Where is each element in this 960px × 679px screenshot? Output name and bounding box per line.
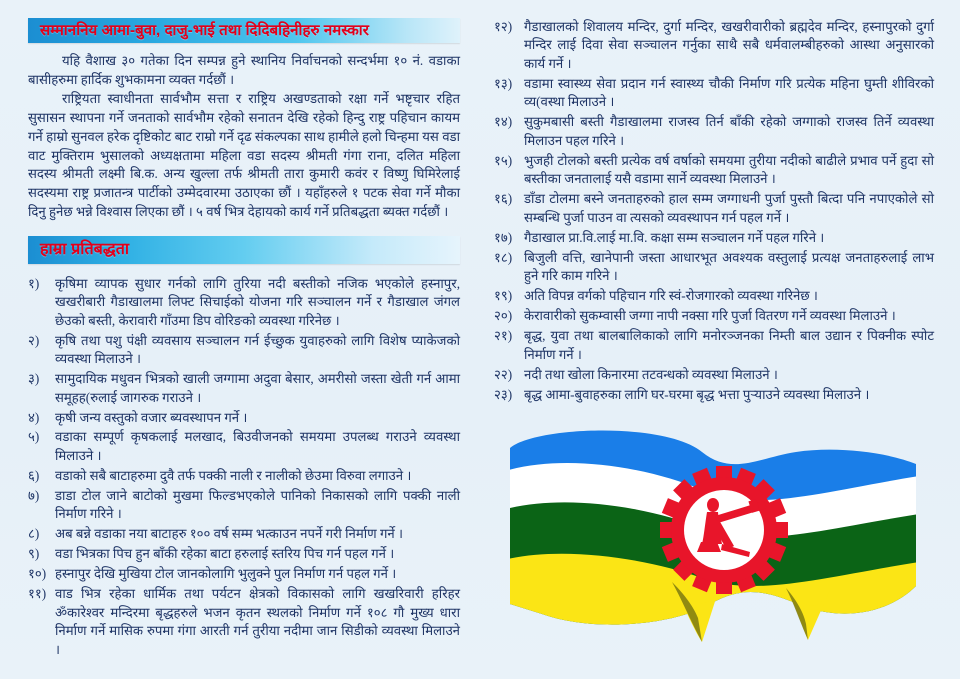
- list-item-text: नदी तथा खोला किनारमा तटवन्धको व्यवस्था म…: [524, 366, 934, 384]
- list-item: ९) वडा भित्रका पिच हुन बाँकी रहेका बाटा …: [28, 545, 460, 563]
- commitments-list-right: १२) गैडाखालको शिवालय मन्दिर, दुर्गा मन्द…: [494, 18, 934, 404]
- list-item-number: ६): [28, 467, 55, 485]
- list-item-number: २०): [494, 307, 524, 325]
- intro-paragraph-1: यहि वैशाख ३० गतेका दिन सम्पन्न हुने स्था…: [28, 52, 460, 89]
- list-item-number: ५): [28, 428, 55, 446]
- list-item-text: अब बन्ने वडाका नया बाटाहरु १०० वर्ष सम्म…: [55, 525, 460, 543]
- list-item-text: बिजुली वत्ति, खानेपानी जस्ता आधारभूत अवश…: [524, 249, 934, 286]
- list-item: १८) बिजुली वत्ति, खानेपानी जस्ता आधारभूत…: [494, 249, 934, 286]
- intro-paragraph-2: राष्ट्रियता स्वाधीनता सार्वभौम सत्ता र र…: [28, 90, 460, 221]
- list-item-number: १८): [494, 249, 524, 267]
- list-item: २०) केरावारीको सुकम्वासी जग्गा नापी नक्स…: [494, 307, 934, 325]
- greeting-banner-title: सम्माननिय आमा-बुवा, दाजु-भाई तथा दिदिबहि…: [40, 23, 369, 38]
- list-item-number: ३): [28, 370, 55, 388]
- gear-emblem-icon: [660, 466, 788, 594]
- list-item-number: १९): [494, 287, 524, 305]
- list-item: १०) हस्नापुर देखि मुखिया टोल जानकोलागि भ…: [28, 565, 460, 583]
- list-item: १४) सुकुमबासी बस्ती गैडाखालमा राजस्व तिर…: [494, 113, 934, 150]
- list-item: २३) बृद्ध आमा-बुवाहरुका लागि घर-घरमा बृद…: [494, 386, 934, 404]
- list-item: ६) वडाको सबै बाटाहरुमा दुवै तर्फ पक्की न…: [28, 467, 460, 485]
- list-item-text: वाड भित्र रहेका धार्मिक तथा पर्यटन क्षेत…: [55, 585, 460, 659]
- list-item-number: २२): [494, 366, 524, 384]
- commitments-banner: हाम्रा प्रतिबद्धता: [28, 236, 460, 264]
- right-column: १२) गैडाखालको शिवालय मन्दिर, दुर्गा मन्द…: [480, 0, 960, 679]
- list-item-text: अति विपन्न वर्गको पहिचान गरि स्वं-रोजगार…: [524, 287, 934, 305]
- list-item-number: १६): [494, 190, 524, 208]
- list-item: २१) बृद्ध, युवा तथा बालबालिकाको लागि मनो…: [494, 327, 934, 364]
- list-item: १) कृषिमा व्यापक सुधार गर्नको लागि तुरिय…: [28, 275, 460, 330]
- list-item-number: २): [28, 332, 55, 350]
- party-flag-emblem-icon: [496, 418, 932, 670]
- list-item-text: वडा भित्रका पिच हुन बाँकी रहेका बाटा हरु…: [55, 545, 460, 563]
- list-item: १२) गैडाखालको शिवालय मन्दिर, दुर्गा मन्द…: [494, 18, 934, 73]
- list-item: १६) डाँडा टोलमा बस्ने जनताहरुको हाल सम्म…: [494, 190, 934, 227]
- list-item-text: कृषि तथा पशु पंक्षी व्यवसाय सञ्चालन गर्न…: [55, 332, 460, 369]
- list-item: ७) डाडा टोल जाने बाटोको मुखमा फिल्डभएकोल…: [28, 487, 460, 524]
- list-item: २२) नदी तथा खोला किनारमा तटवन्धको व्यवस्…: [494, 366, 934, 384]
- list-item-text: वडाका सम्पूर्ण कृषकलाई मलखाद, बिउवीजनको …: [55, 428, 460, 465]
- list-item-number: १२): [494, 18, 524, 36]
- list-item-number: १७): [494, 229, 524, 247]
- list-item-text: कृषिमा व्यापक सुधार गर्नको लागि तुरिया न…: [55, 275, 460, 330]
- list-item-text: डाँडा टोलमा बस्ने जनताहरुको हाल सम्म जग्…: [524, 190, 934, 227]
- list-item-text: सामुदायिक मधुवन भित्रको खाली जग्गामा अदु…: [55, 370, 460, 407]
- list-item-text: केरावारीको सुकम्वासी जग्गा नापी नक्सा गर…: [524, 307, 934, 325]
- list-item-text: भुजही टोलको बस्ती प्रत्येक वर्ष वर्षाको …: [524, 152, 934, 189]
- list-item-text: हस्नापुर देखि मुखिया टोल जानकोलागि भुलुक…: [55, 565, 460, 583]
- list-item: १३) वडामा स्वास्थ्य सेवा प्रदान गर्न स्व…: [494, 75, 934, 112]
- list-item-text: डाडा टोल जाने बाटोको मुखमा फिल्डभएकोले प…: [55, 487, 460, 524]
- list-item: ३) सामुदायिक मधुवन भित्रको खाली जग्गामा …: [28, 370, 460, 407]
- list-item-number: १): [28, 275, 55, 293]
- list-item-text: सुकुमबासी बस्ती गैडाखालमा राजस्व तिर्न ब…: [524, 113, 934, 150]
- commitments-list-left: १) कृषिमा व्यापक सुधार गर्नको लागि तुरिय…: [28, 275, 460, 660]
- list-item-text: कृषी जन्य वस्तुको वजार ब्यवस्थापन गर्ने …: [55, 409, 460, 427]
- pamphlet-page: सम्माननिय आमा-बुवा, दाजु-भाई तथा दिदिबहि…: [0, 0, 960, 679]
- greeting-banner: सम्माननिय आमा-बुवा, दाजु-भाई तथा दिदिबहि…: [28, 18, 460, 43]
- commitments-banner-title: हाम्रा प्रतिबद्धता: [40, 242, 129, 258]
- list-item-number: १०): [28, 565, 55, 583]
- list-item: ४) कृषी जन्य वस्तुको वजार ब्यवस्थापन गर्…: [28, 409, 460, 427]
- left-column: सम्माननिय आमा-बुवा, दाजु-भाई तथा दिदिबहि…: [0, 0, 480, 679]
- list-item-number: १४): [494, 113, 524, 131]
- list-item: १७) गैडाखाल प्रा.वि.लाई मा.वि. कक्षा सम्…: [494, 229, 934, 247]
- list-item: ८) अब बन्ने वडाका नया बाटाहरु १०० वर्ष स…: [28, 525, 460, 543]
- list-item-text: गैडाखालको शिवालय मन्दिर, दुर्गा मन्दिर, …: [524, 18, 934, 73]
- list-item-text: गैडाखाल प्रा.वि.लाई मा.वि. कक्षा सम्म सञ…: [524, 229, 934, 247]
- list-item-number: २१): [494, 327, 524, 345]
- list-item: १५) भुजही टोलको बस्ती प्रत्येक वर्ष वर्ष…: [494, 152, 934, 189]
- list-item-text: बृद्ध आमा-बुवाहरुका लागि घर-घरमा बृद्ध भ…: [524, 386, 934, 404]
- party-flag-container: [494, 418, 934, 670]
- list-item-text: वडामा स्वास्थ्य सेवा प्रदान गर्न स्वास्थ…: [524, 75, 934, 112]
- list-item-number: ४): [28, 409, 55, 427]
- list-item-number: ७): [28, 487, 55, 505]
- list-item-number: २३): [494, 386, 524, 404]
- list-item: १९) अति विपन्न वर्गको पहिचान गरि स्वं-रो…: [494, 287, 934, 305]
- list-item: २) कृषि तथा पशु पंक्षी व्यवसाय सञ्चालन ग…: [28, 332, 460, 369]
- list-item-number: १३): [494, 75, 524, 93]
- list-item-text: बृद्ध, युवा तथा बालबालिकाको लागि मनोरञ्ज…: [524, 327, 934, 364]
- list-item-text: वडाको सबै बाटाहरुमा दुवै तर्फ पक्की नाली…: [55, 467, 460, 485]
- list-item: ११) वाड भित्र रहेका धार्मिक तथा पर्यटन क…: [28, 585, 460, 659]
- list-item-number: ८): [28, 525, 55, 543]
- list-item: ५) वडाका सम्पूर्ण कृषकलाई मलखाद, बिउवीजन…: [28, 428, 460, 465]
- list-item-number: ९): [28, 545, 55, 563]
- list-item-number: १५): [494, 152, 524, 170]
- list-item-number: ११): [28, 585, 55, 603]
